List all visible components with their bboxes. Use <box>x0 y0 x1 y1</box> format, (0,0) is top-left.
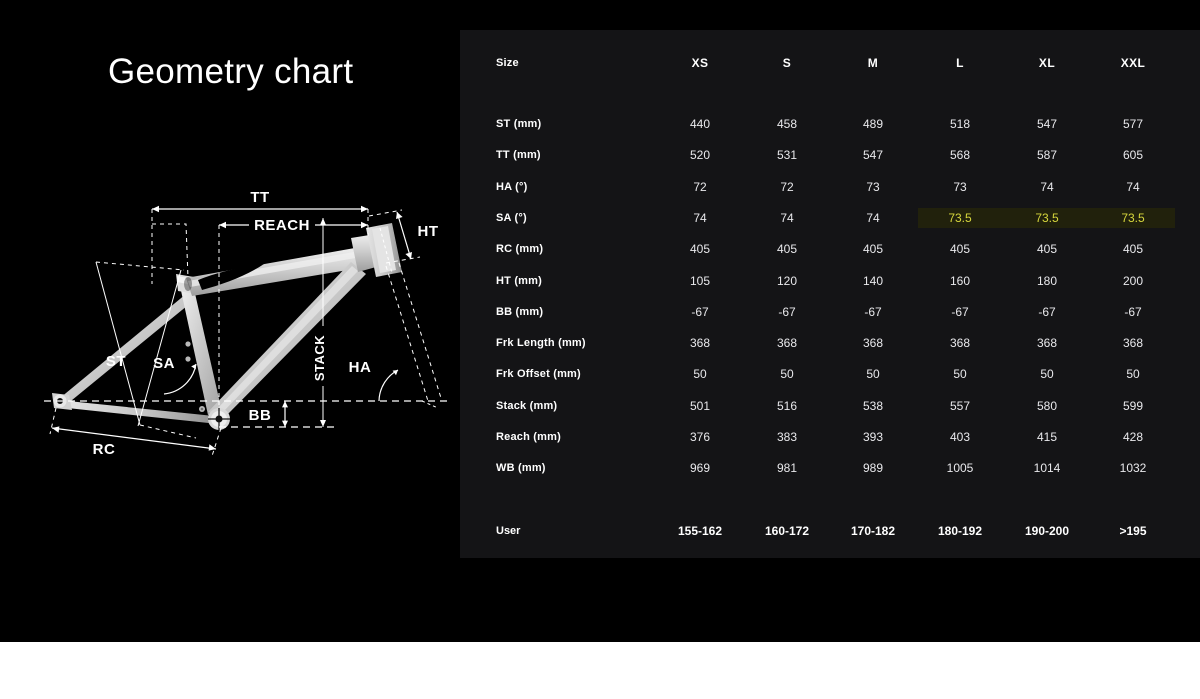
row-label: BB (mm) <box>496 300 543 324</box>
row-label: TT (mm) <box>496 143 541 167</box>
reach-label: REACH <box>254 217 310 234</box>
table-cell: 587 <box>1007 143 1087 167</box>
geometry-table-panel: SizeXSSMLXLXXLST (mm)440458489518547577T… <box>460 30 1200 558</box>
table-cell: 140 <box>833 269 913 293</box>
column-header-xl: XL <box>1007 51 1087 75</box>
table-cell: 105 <box>660 269 740 293</box>
tt-label: TT <box>250 189 269 206</box>
table-cell: 518 <box>920 112 1000 136</box>
table-cell: 1014 <box>1007 456 1087 480</box>
table-cell: 989 <box>833 456 913 480</box>
row-label: HT (mm) <box>496 269 542 293</box>
column-header-l: L <box>920 51 1000 75</box>
table-cell: 458 <box>747 112 827 136</box>
table-row: Frk Offset (mm)505050505050 <box>460 362 1200 386</box>
table-cell: 568 <box>920 143 1000 167</box>
table-cell: 1005 <box>920 456 1000 480</box>
row-label: Frk Length (mm) <box>496 331 586 355</box>
column-header-xxl: XXL <box>1093 51 1173 75</box>
user-range-cell: 160-172 <box>742 519 832 543</box>
table-cell: 74 <box>747 206 827 230</box>
table-cell: 580 <box>1007 394 1087 418</box>
user-range-cell: 155-162 <box>655 519 745 543</box>
ha-label: HA <box>349 359 372 376</box>
bb-label: BB <box>249 407 272 424</box>
geometry-table: SizeXSSMLXLXXLST (mm)440458489518547577T… <box>460 30 1200 558</box>
table-row: Frk Length (mm)368368368368368368 <box>460 331 1200 355</box>
table-row: HA (°)727273737474 <box>460 175 1200 199</box>
table-cell: 405 <box>920 237 1000 261</box>
table-row: HT (mm)105120140160180200 <box>460 269 1200 293</box>
table-cell: 73.5 <box>1093 206 1173 230</box>
table-cell: 74 <box>1093 175 1173 199</box>
table-cell: 981 <box>747 456 827 480</box>
table-row: RC (mm)405405405405405405 <box>460 237 1200 261</box>
table-cell: -67 <box>1007 300 1087 324</box>
user-range-cell: >195 <box>1088 519 1178 543</box>
table-cell: 547 <box>833 143 913 167</box>
table-row: ST (mm)440458489518547577 <box>460 112 1200 136</box>
table-cell: 538 <box>833 394 913 418</box>
rc-label: RC <box>93 441 116 458</box>
table-cell: 405 <box>1093 237 1173 261</box>
table-cell: -67 <box>747 300 827 324</box>
table-cell: 74 <box>1007 175 1087 199</box>
table-cell: 368 <box>1093 331 1173 355</box>
table-cell: 393 <box>833 425 913 449</box>
ht-label: HT <box>418 223 439 240</box>
table-cell: 599 <box>1093 394 1173 418</box>
table-cell: 520 <box>660 143 740 167</box>
user-range-cell: 170-182 <box>828 519 918 543</box>
table-cell: 73 <box>920 175 1000 199</box>
table-cell: 405 <box>747 237 827 261</box>
table-cell: 120 <box>747 269 827 293</box>
bicycle-frame-geometry-diagram: TT REACH HT <box>36 166 456 486</box>
table-cell: 403 <box>920 425 1000 449</box>
table-cell: 73.5 <box>1007 206 1087 230</box>
user-row-label: User <box>496 519 520 543</box>
table-cell: 50 <box>920 362 1000 386</box>
row-label: Reach (mm) <box>496 425 561 449</box>
frame-body <box>52 223 402 430</box>
table-cell: 73.5 <box>920 206 1000 230</box>
row-label: WB (mm) <box>496 456 546 480</box>
table-row: SA (°)74747473.573.573.5 <box>460 206 1200 230</box>
table-row: BB (mm)-67-67-67-67-67-67 <box>460 300 1200 324</box>
table-cell: -67 <box>833 300 913 324</box>
table-cell: 557 <box>920 394 1000 418</box>
row-label: Frk Offset (mm) <box>496 362 581 386</box>
table-cell: 368 <box>747 331 827 355</box>
row-label: Stack (mm) <box>496 394 557 418</box>
table-cell: 577 <box>1093 112 1173 136</box>
table-row: Stack (mm)501516538557580599 <box>460 394 1200 418</box>
ha-dimension: HA <box>349 263 441 408</box>
table-row: Reach (mm)376383393403415428 <box>460 425 1200 449</box>
row-label: RC (mm) <box>496 237 543 261</box>
table-cell: 605 <box>1093 143 1173 167</box>
table-cell: 72 <box>747 175 827 199</box>
user-height-row: User155-162160-172170-182180-192190-200>… <box>460 519 1200 543</box>
table-cell: 531 <box>747 143 827 167</box>
stack-label: STACK <box>312 335 327 381</box>
st-label: ST <box>106 353 126 370</box>
table-cell: 547 <box>1007 112 1087 136</box>
column-header-size: Size <box>496 51 519 75</box>
table-cell: 405 <box>1007 237 1087 261</box>
row-label: SA (°) <box>496 206 527 230</box>
bb-dimension: BB <box>249 401 288 427</box>
column-header-m: M <box>833 51 913 75</box>
table-cell: 489 <box>833 112 913 136</box>
geometry-chart-screenshot: Geometry chart <box>0 0 1200 699</box>
table-cell: 405 <box>833 237 913 261</box>
table-cell: 180 <box>1007 269 1087 293</box>
table-cell: 405 <box>660 237 740 261</box>
table-cell: 74 <box>660 206 740 230</box>
row-label: HA (°) <box>496 175 527 199</box>
table-cell: 368 <box>660 331 740 355</box>
table-cell: 50 <box>1007 362 1087 386</box>
table-cell: 516 <box>747 394 827 418</box>
table-row: WB (mm)969981989100510141032 <box>460 456 1200 480</box>
table-cell: 376 <box>660 425 740 449</box>
user-range-cell: 180-192 <box>915 519 1005 543</box>
table-cell: 160 <box>920 269 1000 293</box>
table-cell: 428 <box>1093 425 1173 449</box>
table-cell: 72 <box>660 175 740 199</box>
page-title: Geometry chart <box>108 52 353 92</box>
table-cell: 368 <box>1007 331 1087 355</box>
table-cell: 969 <box>660 456 740 480</box>
table-cell: 50 <box>1093 362 1173 386</box>
table-row: TT (mm)520531547568587605 <box>460 143 1200 167</box>
table-cell: 368 <box>920 331 1000 355</box>
table-cell: 415 <box>1007 425 1087 449</box>
sa-label: SA <box>153 355 175 372</box>
table-cell: 383 <box>747 425 827 449</box>
table-cell: 50 <box>833 362 913 386</box>
table-cell: 50 <box>747 362 827 386</box>
table-cell: -67 <box>660 300 740 324</box>
table-cell: 440 <box>660 112 740 136</box>
row-label: ST (mm) <box>496 112 541 136</box>
table-cell: 74 <box>833 206 913 230</box>
table-cell: -67 <box>920 300 1000 324</box>
table-cell: 50 <box>660 362 740 386</box>
table-cell: 200 <box>1093 269 1173 293</box>
column-header-xs: XS <box>660 51 740 75</box>
table-cell: -67 <box>1093 300 1173 324</box>
table-header-row: SizeXSSMLXLXXL <box>460 51 1200 75</box>
table-cell: 501 <box>660 394 740 418</box>
table-cell: 1032 <box>1093 456 1173 480</box>
table-cell: 73 <box>833 175 913 199</box>
column-header-s: S <box>747 51 827 75</box>
table-cell: 368 <box>833 331 913 355</box>
user-range-cell: 190-200 <box>1002 519 1092 543</box>
